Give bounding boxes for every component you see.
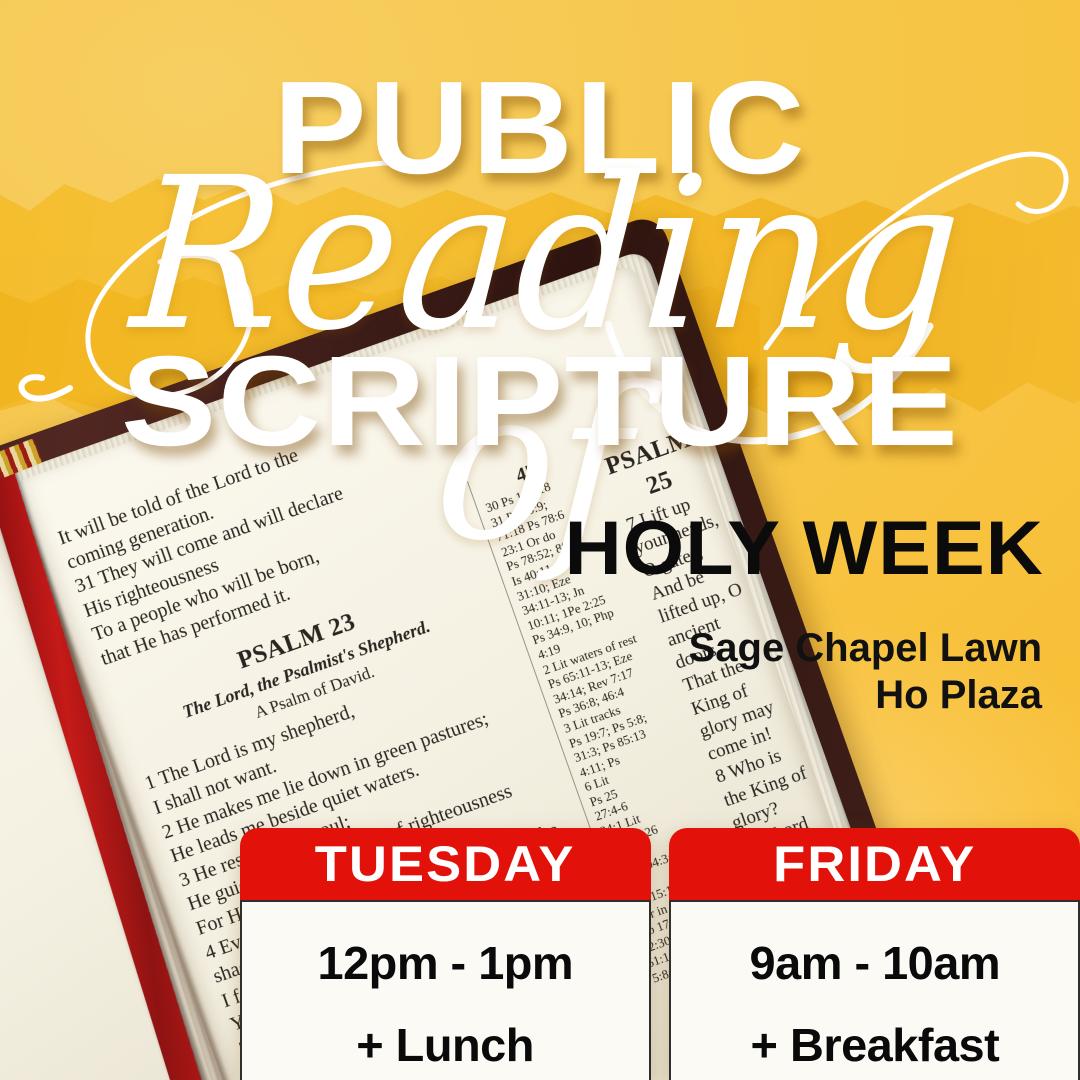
card-extra-note: + Lunch — [357, 1018, 535, 1072]
card-header-friday: FRIDAY — [669, 828, 1080, 900]
card-day-label: FRIDAY — [773, 835, 976, 893]
card-day-label: TUESDAY — [315, 835, 576, 893]
card-header-tuesday: TUESDAY — [240, 828, 651, 900]
card-body-friday: 9am - 10am + Breakfast — [669, 900, 1080, 1080]
venue-line-2: Ho Plaza — [689, 672, 1042, 719]
card-time-range: 12pm - 1pm — [318, 936, 574, 990]
schedule-card-friday: FRIDAY 9am - 10am + Breakfast — [669, 828, 1080, 1080]
card-time-range: 9am - 10am — [749, 936, 1000, 990]
title-lockup: PUBLIC Reading of SCRIPTURE — [0, 0, 1080, 470]
schedule-card-group: TUESDAY 12pm - 1pm + Lunch FRIDAY 9am - … — [240, 828, 1080, 1080]
poster-canvas: hands and my nes. at me; ents among y ca… — [0, 0, 1080, 1080]
card-body-tuesday: 12pm - 1pm + Lunch — [240, 900, 651, 1080]
schedule-card-tuesday: TUESDAY 12pm - 1pm + Lunch — [240, 828, 651, 1080]
card-extra-note: + Breakfast — [750, 1018, 999, 1072]
venue-block: Sage Chapel Lawn Ho Plaza — [689, 625, 1042, 719]
venue-line-1: Sage Chapel Lawn — [689, 625, 1042, 672]
title-scripture: SCRIPTURE — [0, 338, 1080, 466]
event-name: HOLY WEEK — [565, 505, 1044, 592]
